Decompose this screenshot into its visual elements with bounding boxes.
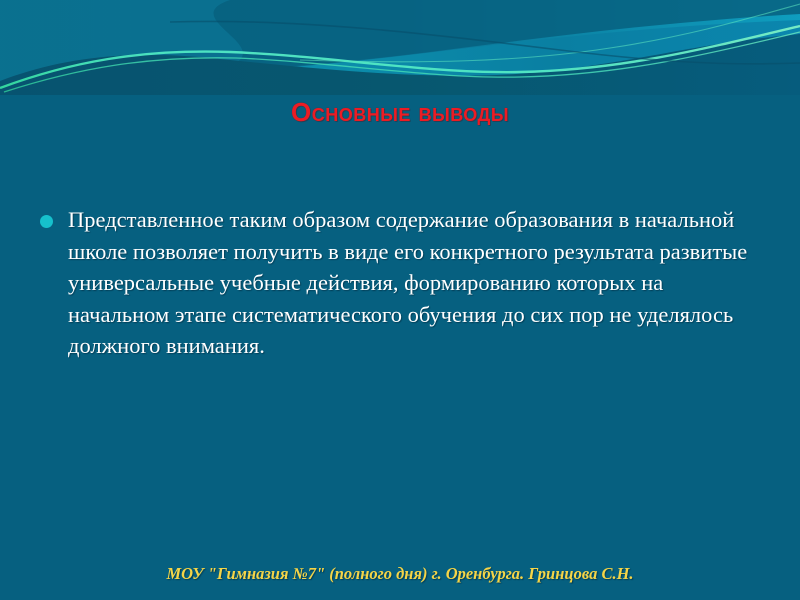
bullet-item-text: Представленное таким образом содержание …: [68, 204, 770, 362]
slide-footer: МОУ "Гимназия №7" (полного дня) г. Оренб…: [0, 564, 800, 584]
bullet-list: Представленное таким образом содержание …: [40, 204, 770, 362]
slide-canvas: Основные выводы Представленное таким обр…: [0, 0, 800, 600]
wave-graphic: [0, 0, 800, 95]
decorative-wave-banner: [0, 0, 800, 95]
page-title: Основные выводы: [0, 97, 800, 128]
bullet-disc-icon: [40, 215, 53, 228]
